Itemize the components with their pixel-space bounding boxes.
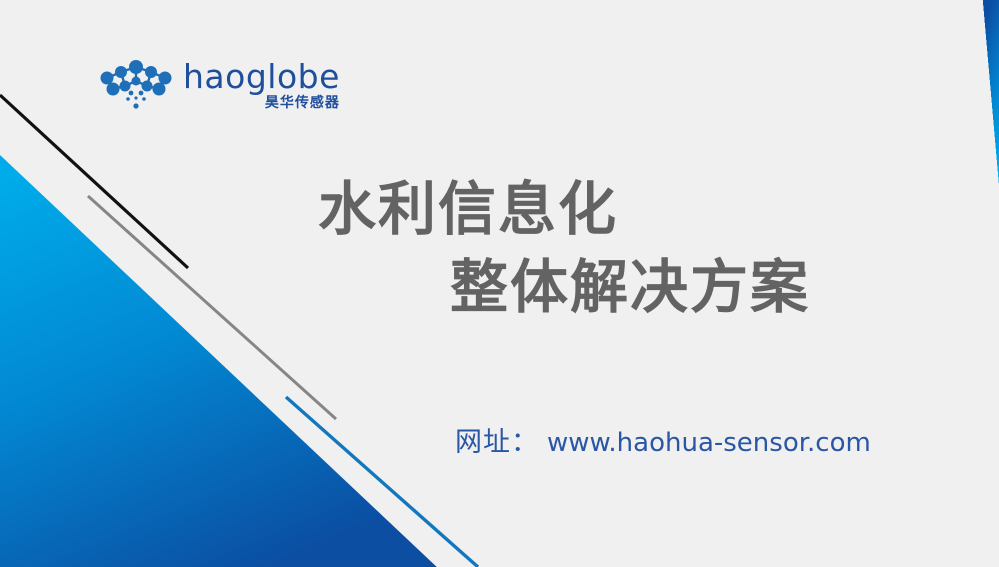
presentation-slide: haoglobe 昊华传感器 水利信息化 整体解决方案 网址： www.haoh… xyxy=(0,0,999,567)
logo-subtitle: 昊华传感器 xyxy=(265,95,340,111)
gray-diagonal-line xyxy=(88,196,336,419)
logo-wordmark: haoglobe xyxy=(183,61,340,93)
slide-title: 水利信息化 整体解决方案 xyxy=(318,170,918,326)
network-nodes-icon xyxy=(97,58,175,113)
blue-diagonal-line xyxy=(286,397,478,567)
company-logo: haoglobe 昊华传感器 xyxy=(97,58,340,113)
title-line-2: 整体解决方案 xyxy=(318,248,918,326)
website-url[interactable]: www.haohua-sensor.com xyxy=(547,428,871,458)
black-diagonal-line xyxy=(0,95,188,268)
website-line: 网址： www.haohua-sensor.com xyxy=(455,420,871,459)
logo-text-block: haoglobe 昊华传感器 xyxy=(183,58,340,111)
website-label: 网址： xyxy=(455,420,539,459)
title-line-1: 水利信息化 xyxy=(318,170,918,248)
